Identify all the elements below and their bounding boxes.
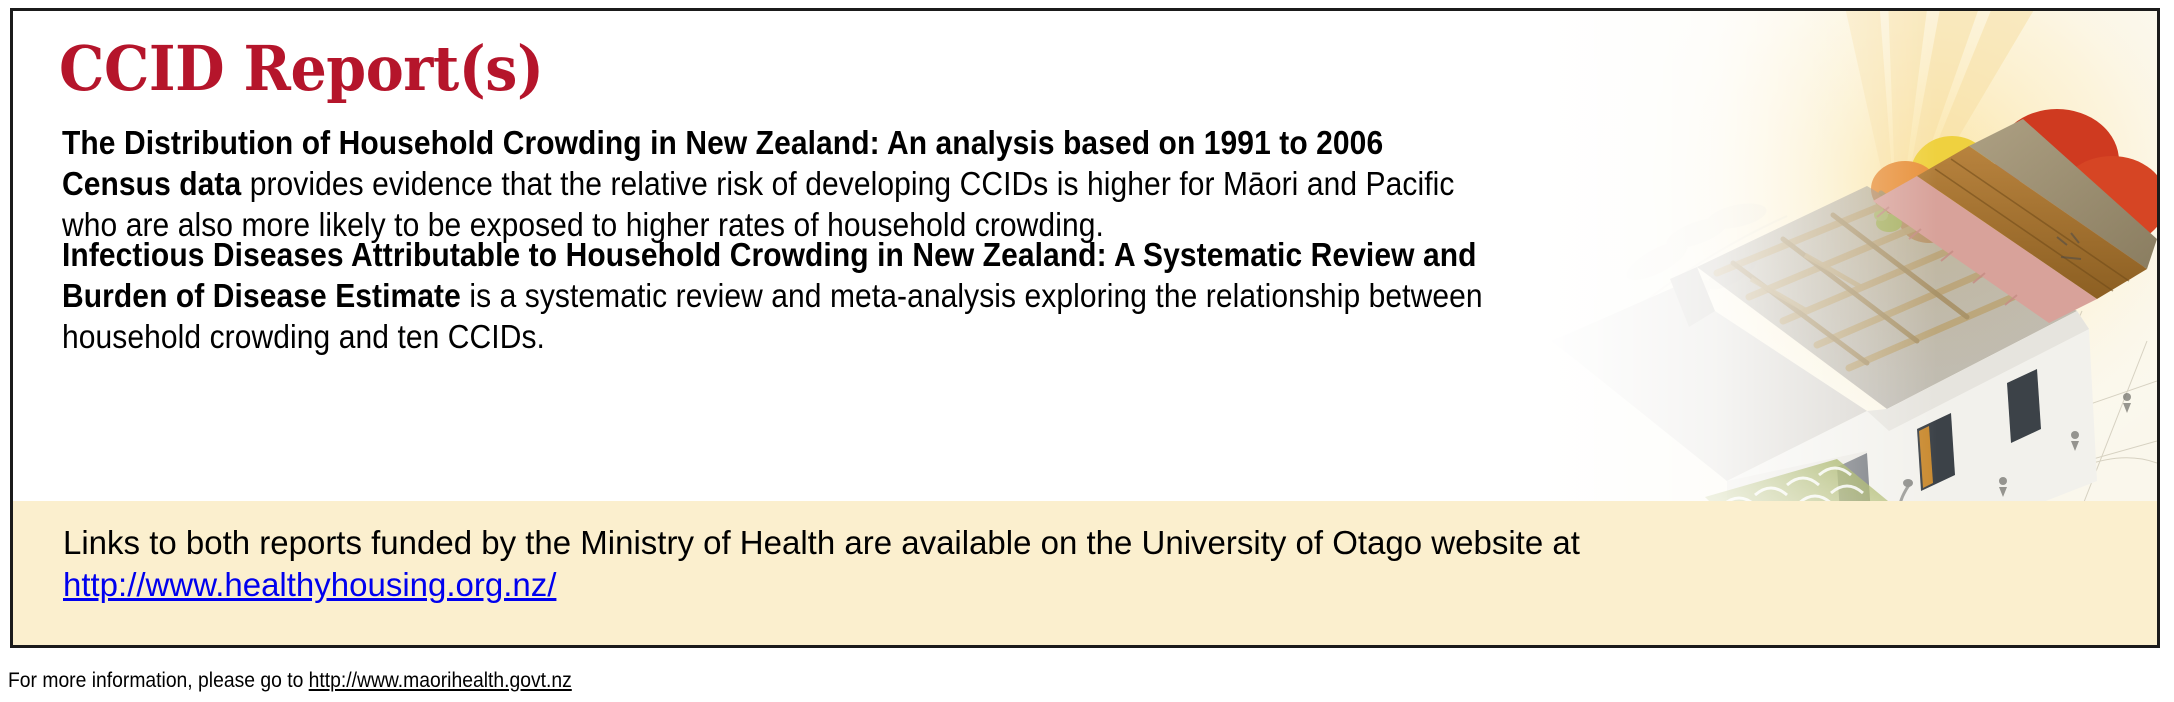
report-paragraph-1: The Distribution of Household Crowding i… bbox=[62, 123, 1458, 246]
report-1-description: provides evidence that the relative risk… bbox=[62, 166, 1454, 244]
page-title: CCID Report(s) bbox=[59, 34, 543, 104]
links-callout-text: Links to both reports funded by the Mini… bbox=[63, 523, 1836, 607]
footer-note: For more information, please go to http:… bbox=[8, 668, 572, 694]
links-callout-lead: Links to both reports funded by the Mini… bbox=[63, 525, 1580, 562]
ccid-report-panel: CCID Report(s) The Distribution of House… bbox=[10, 8, 2160, 648]
report-paragraph-2: Infectious Diseases Attributable to Hous… bbox=[62, 235, 1494, 358]
footer-prefix: For more information, please go to bbox=[8, 669, 309, 692]
links-callout-band: Links to both reports funded by the Mini… bbox=[13, 501, 2157, 645]
house-model-image bbox=[1537, 11, 2157, 571]
healthyhousing-link[interactable]: http://www.healthyhousing.org.nz/ bbox=[63, 567, 556, 604]
maorihealth-link[interactable]: http://www.maorihealth.govt.nz bbox=[309, 669, 572, 692]
